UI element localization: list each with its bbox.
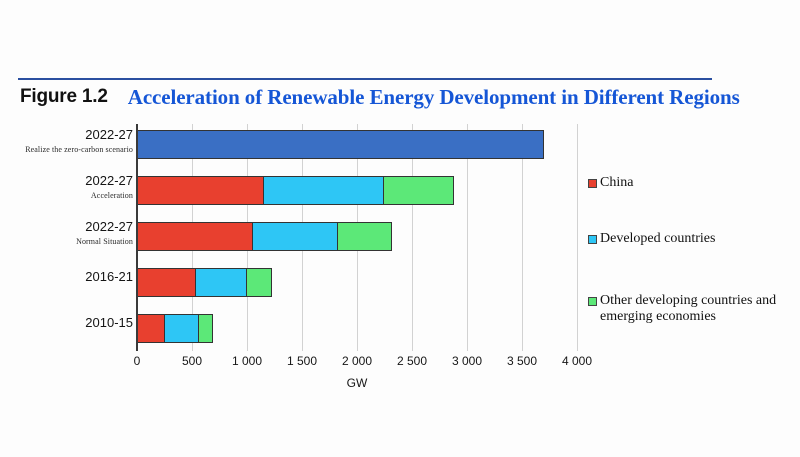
plot-region xyxy=(137,124,577,351)
bar-segment[interactable] xyxy=(263,176,384,205)
legend-swatch-developed xyxy=(588,235,597,244)
bar-segment[interactable] xyxy=(195,268,247,297)
x-axis-tick-label: 3 500 xyxy=(507,354,537,368)
category-label: 2022-27Acceleration xyxy=(8,172,133,201)
bar-segment[interactable] xyxy=(137,222,253,251)
legend-item[interactable]: China xyxy=(588,175,633,191)
category-label-sub: Normal Situation xyxy=(8,238,133,247)
category-label: 2022-27Realize the zero-carbon scenario xyxy=(8,126,133,155)
category-label-main: 2022-27 xyxy=(85,173,133,188)
category-label: 2016-21 xyxy=(8,268,133,286)
title-divider xyxy=(18,78,712,80)
bar-segment[interactable] xyxy=(137,176,264,205)
bar-segment[interactable] xyxy=(337,222,392,251)
bar-segment[interactable] xyxy=(137,130,544,159)
bar-2016-21[interactable] xyxy=(137,268,272,297)
bar-normal-situation[interactable] xyxy=(137,222,392,251)
legend-item[interactable]: Developed countries xyxy=(588,231,715,247)
legend-swatch-china xyxy=(588,179,597,188)
category-label-main: 2022-27 xyxy=(85,127,133,142)
category-label-main: 2022-27 xyxy=(85,219,133,234)
legend-label: Developed countries xyxy=(600,231,715,247)
x-axis-tick-label: 1 500 xyxy=(287,354,317,368)
bar-segment[interactable] xyxy=(383,176,455,205)
x-axis-tick-label: 500 xyxy=(182,354,202,368)
bar-segment[interactable] xyxy=(198,314,213,343)
x-axis-tick-label: 3 000 xyxy=(452,354,482,368)
legend-item[interactable]: Other developing countries and emerging … xyxy=(588,293,796,325)
bar-segment[interactable] xyxy=(252,222,339,251)
chart-legend: ChinaDeveloped countriesOther developing… xyxy=(588,118,800,348)
bar-2010-15[interactable] xyxy=(137,314,213,343)
x-axis-tick-label: 4 000 xyxy=(562,354,592,368)
page-title: Acceleration of Renewable Energy Develop… xyxy=(128,85,740,110)
figure-number: Figure 1.2 xyxy=(20,86,108,108)
category-label-main: 2016-21 xyxy=(85,269,133,284)
category-label-sub: Realize the zero-carbon scenario xyxy=(8,146,133,155)
bar-zero-carbon[interactable] xyxy=(137,130,544,159)
x-axis-ticks: 05001 0001 5002 0002 5003 0003 5004 000 xyxy=(0,354,800,374)
x-axis-tick-label: 1 000 xyxy=(232,354,262,368)
y-axis-line xyxy=(136,124,138,351)
legend-label: China xyxy=(600,175,633,191)
x-axis-title: GW xyxy=(137,376,577,390)
figure-slide: Figure 1.2 Acceleration of Renewable Ene… xyxy=(0,0,800,457)
gridline xyxy=(577,124,578,351)
category-label: 2022-27Normal Situation xyxy=(8,218,133,247)
bar-segment[interactable] xyxy=(164,314,199,343)
category-label-main: 2010-15 xyxy=(85,315,133,330)
bar-segment[interactable] xyxy=(137,314,165,343)
category-label-sub: Acceleration xyxy=(8,192,133,201)
legend-label: Other developing countries and emerging … xyxy=(600,293,796,325)
x-axis-tick-label: 2 000 xyxy=(342,354,372,368)
figure-header: Figure 1.2 Acceleration of Renewable Ene… xyxy=(20,83,720,111)
x-axis-tick-label: 0 xyxy=(134,354,141,368)
bar-segment[interactable] xyxy=(137,268,196,297)
x-axis-tick-label: 2 500 xyxy=(397,354,427,368)
bar-acceleration[interactable] xyxy=(137,176,454,205)
bar-segment[interactable] xyxy=(246,268,272,297)
category-label: 2010-15 xyxy=(8,314,133,332)
legend-swatch-other xyxy=(588,297,597,306)
